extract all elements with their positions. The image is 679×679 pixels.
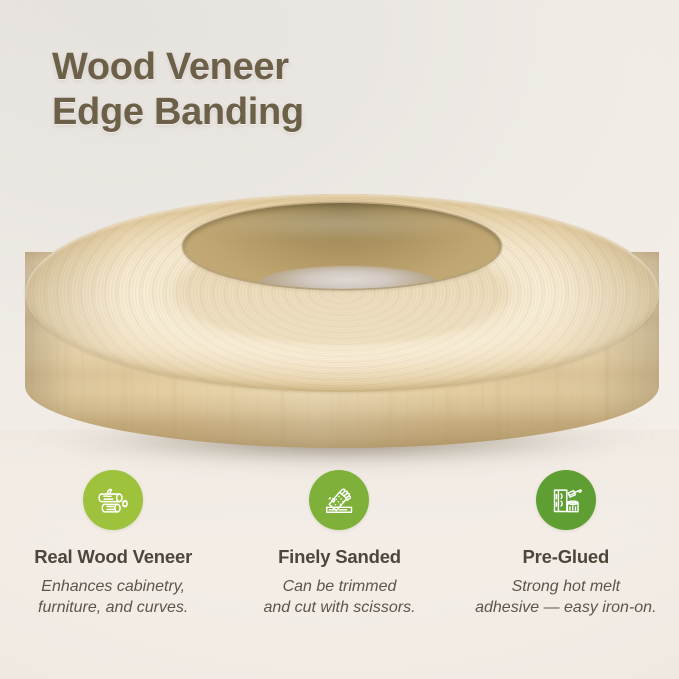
feature-item-pre-glued: Pre-Glued Strong hot melt adhesive — eas…	[453, 470, 679, 619]
feature-description-3: Strong hot melt adhesive — easy iron-on.	[475, 576, 656, 618]
headline-line-2: Edge Banding	[52, 90, 304, 135]
feature-title-2: Finely Sanded	[278, 547, 401, 567]
feature-title-3: Pre-Glued	[523, 547, 610, 567]
feature-icon-circle-1	[83, 470, 143, 530]
band-bottom-shade	[25, 394, 659, 448]
headline-line-1: Wood Veneer	[52, 46, 289, 88]
glue-brush-and-can-icon	[547, 481, 585, 519]
feature-item-real-wood-veneer: Real Wood Veneer Enhances cabinetry, fur…	[0, 470, 226, 619]
feature-icon-circle-2	[309, 470, 369, 530]
feature-icon-circle-3	[536, 470, 596, 530]
page-title: Wood Veneer Edge Banding	[52, 45, 304, 135]
stacked-logs-icon	[94, 481, 132, 519]
roll-top-highlight	[120, 200, 560, 246]
feature-list: Real Wood Veneer Enhances cabinetry, fur…	[0, 470, 679, 619]
feature-item-finely-sanded: Finely Sanded Can be trimmed and cut wit…	[226, 470, 452, 619]
product-marketing-image: Wood Veneer Edge Banding	[0, 0, 679, 679]
feature-description-1: Enhances cabinetry, furniture, and curve…	[38, 576, 188, 618]
feature-description-2: Can be trimmed and cut with scissors.	[263, 576, 415, 618]
feature-title-1: Real Wood Veneer	[34, 547, 192, 567]
hand-sanding-board-icon	[320, 481, 358, 519]
